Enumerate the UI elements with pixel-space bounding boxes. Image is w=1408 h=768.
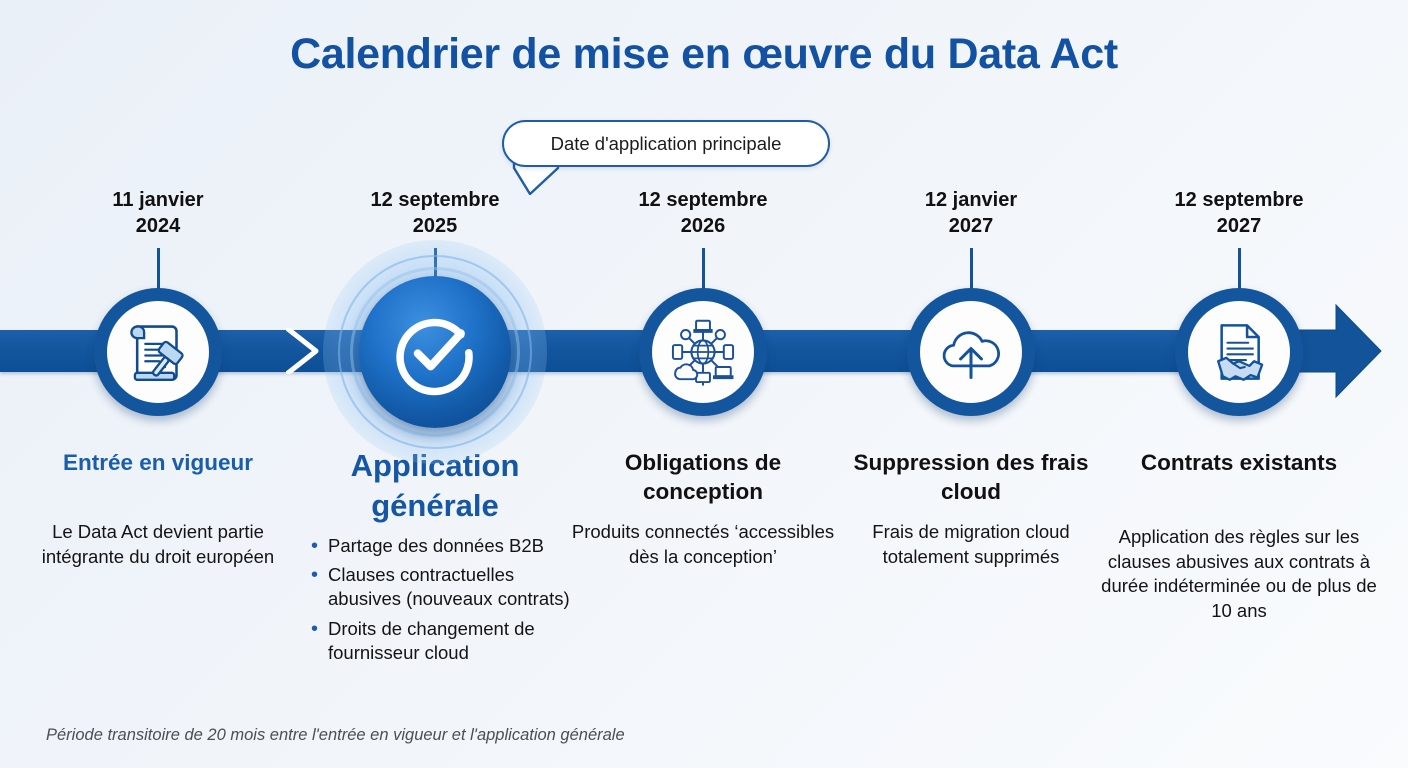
footer-note: Période transitoire de 20 mois entre l'e… [46,726,625,745]
milestone-description: Frais de migration cloud totalement supp… [829,520,1113,569]
list-item: Droits de changement de fournisseur clou… [311,617,579,665]
data-act-timeline-infographic: Calendrier de mise en œuvre du Data Act … [0,0,1408,768]
milestone-node[interactable] [639,288,767,416]
contract-handshake-icon [1202,315,1276,389]
milestone-description: Le Data Act devient partie intégrante du… [16,520,300,569]
milestone-heading: Suppression des frais cloud [831,448,1111,507]
date-line-1: 11 janvier [112,189,203,211]
milestone-date: 12 septembre 2027 [1105,188,1373,239]
date-line-2: 2027 [1217,215,1262,237]
milestone-date: 11 janvier 2024 [24,188,292,239]
milestone-heading: Obligations de conception [563,448,843,507]
page-title: Calendrier de mise en œuvre du Data Act [0,30,1408,79]
milestone-heading: Application générale [295,446,575,525]
date-line-1: 12 septembre [371,189,500,211]
date-line-2: 2025 [413,215,458,237]
milestone-stem [702,248,705,290]
milestone-node-highlighted[interactable] [359,276,511,428]
milestone-stem [1238,248,1241,290]
date-line-1: 12 janvier [925,189,1017,211]
timeline-chevron-separator [286,328,320,374]
list-item: Clauses contractuelles abusives (nouveau… [311,563,579,611]
milestone-description: Application des règles sur les clauses a… [1097,525,1381,623]
date-line-2: 2027 [949,215,994,237]
milestone-node[interactable] [94,288,222,416]
date-line-1: 12 septembre [1175,189,1304,211]
milestone-heading: Contrats existants [1099,448,1379,477]
node-core [359,276,511,428]
cloud-upload-icon [934,315,1008,389]
milestone-date: 12 janvier 2027 [837,188,1105,239]
date-line-2: 2026 [681,215,726,237]
list-item: Partage des données B2B [311,534,579,558]
scroll-gavel-icon [121,315,195,389]
milestone-date: 12 septembre 2026 [569,188,837,239]
milestone-stem [157,248,160,290]
milestone-heading: Entrée en vigueur [18,448,298,477]
date-line-2: 2024 [136,215,181,237]
milestone-node[interactable] [907,288,1035,416]
milestone-bullet-list: Partage des données B2B Clauses contract… [311,534,579,670]
iot-network-globe-icon [666,315,740,389]
date-line-1: 12 septembre [639,189,768,211]
milestone-stem [970,248,973,290]
check-circle-icon [389,306,481,398]
milestone-date: 12 septembre 2025 [301,188,569,239]
milestone-node[interactable] [1175,288,1303,416]
callout-bubble: Date d'application principale [502,120,830,167]
callout-label: Date d'application principale [551,133,782,155]
milestone-description: Produits connectés ‘accessibles dès la c… [561,520,845,569]
